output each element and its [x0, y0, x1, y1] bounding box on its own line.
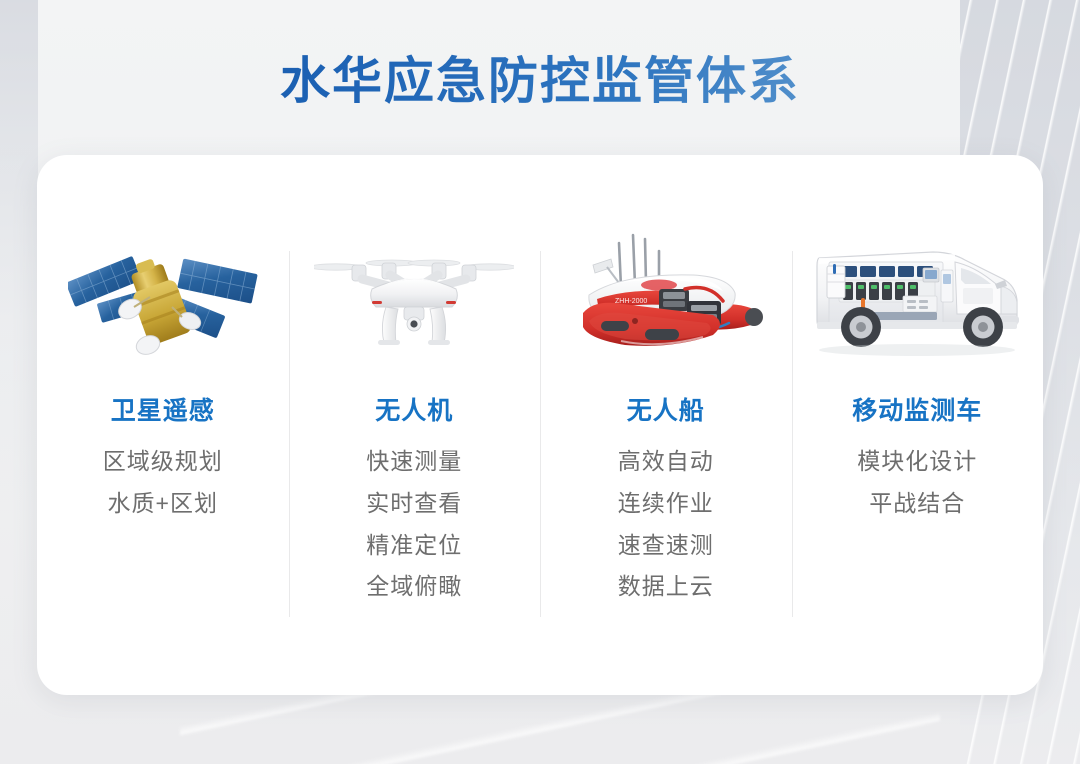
column-items-monitoring-van: 模块化设计 平战结合	[857, 447, 977, 518]
list-item: 高效自动	[618, 447, 714, 476]
feature-column-drone[interactable]: 无人机 快速测量 实时查看 精准定位 全域俯瞰	[289, 155, 541, 695]
column-items-unmanned-boat: 高效自动 连续作业 速查速测 数据上云	[618, 447, 714, 601]
list-item: 模块化设计	[857, 447, 977, 476]
column-title-monitoring-van: 移动监测车	[852, 391, 982, 427]
background-left-gradient-band	[0, 0, 38, 764]
list-item: 快速测量	[366, 447, 462, 476]
list-item: 全域俯瞰	[366, 572, 462, 601]
list-item: 速查速测	[618, 531, 714, 560]
feature-column-unmanned-boat[interactable]: ZHH-2000	[540, 155, 792, 695]
monitoring-van-icon	[802, 217, 1032, 367]
unmanned-boat-icon: ZHH-2000	[551, 217, 781, 367]
list-item: 实时查看	[366, 489, 462, 518]
satellite-icon	[48, 217, 278, 367]
column-items-satellite: 区域级规划 水质+区划	[103, 447, 223, 518]
feature-column-monitoring-van[interactable]: 移动监测车 模块化设计 平战结合	[792, 155, 1044, 695]
column-items-drone: 快速测量 实时查看 精准定位 全域俯瞰	[366, 447, 462, 601]
list-item: 连续作业	[618, 489, 714, 518]
feature-column-satellite[interactable]: 卫星遥感 区域级规划 水质+区划	[37, 155, 289, 695]
page-title: 水华应急防控监管体系	[0, 50, 1080, 113]
drone-icon	[299, 217, 529, 367]
list-item: 数据上云	[618, 572, 714, 601]
list-item: 区域级规划	[103, 447, 223, 476]
list-item: 平战结合	[869, 489, 965, 518]
column-title-satellite: 卫星遥感	[111, 391, 215, 427]
column-title-unmanned-boat: 无人船	[627, 391, 705, 427]
list-item: 水质+区划	[108, 489, 218, 518]
column-title-drone: 无人机	[375, 391, 453, 427]
list-item: 精准定位	[366, 531, 462, 560]
feature-card: 卫星遥感 区域级规划 水质+区划	[37, 155, 1043, 695]
feature-columns: 卫星遥感 区域级规划 水质+区划	[37, 155, 1043, 695]
